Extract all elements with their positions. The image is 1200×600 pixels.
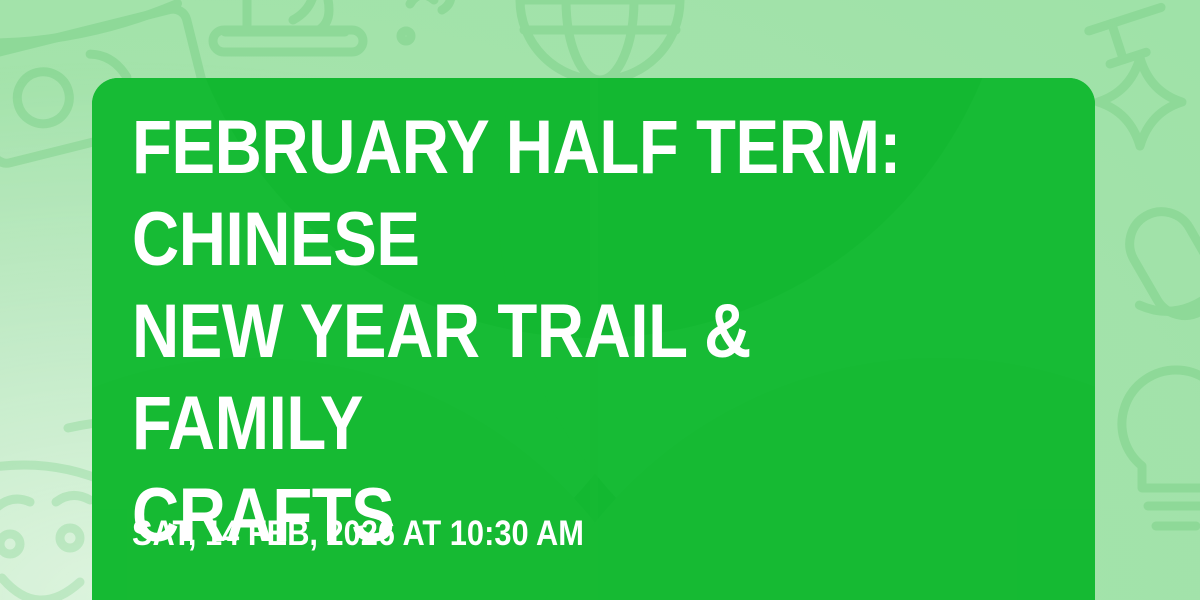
card-content: FEBRUARY HALF TERM: CHINESE NEW YEAR TRA… [92,78,1095,600]
event-card: FEBRUARY HALF TERM: CHINESE NEW YEAR TRA… [92,78,1095,600]
lightbulb-icon [1122,370,1200,526]
event-banner: FEBRUARY HALF TERM: CHINESE NEW YEAR TRA… [0,0,1200,600]
confetti-icon [401,0,451,41]
bench-icon [1089,7,1173,67]
event-date: SAT, 14 FEB, 2026 AT 10:30 AM [132,514,584,554]
sparkle-icon [1098,58,1182,146]
microscope-icon [205,0,363,52]
event-title: FEBRUARY HALF TERM: CHINESE NEW YEAR TRA… [132,102,906,562]
microphone-icon [1102,191,1200,381]
globe-icon [520,0,680,80]
